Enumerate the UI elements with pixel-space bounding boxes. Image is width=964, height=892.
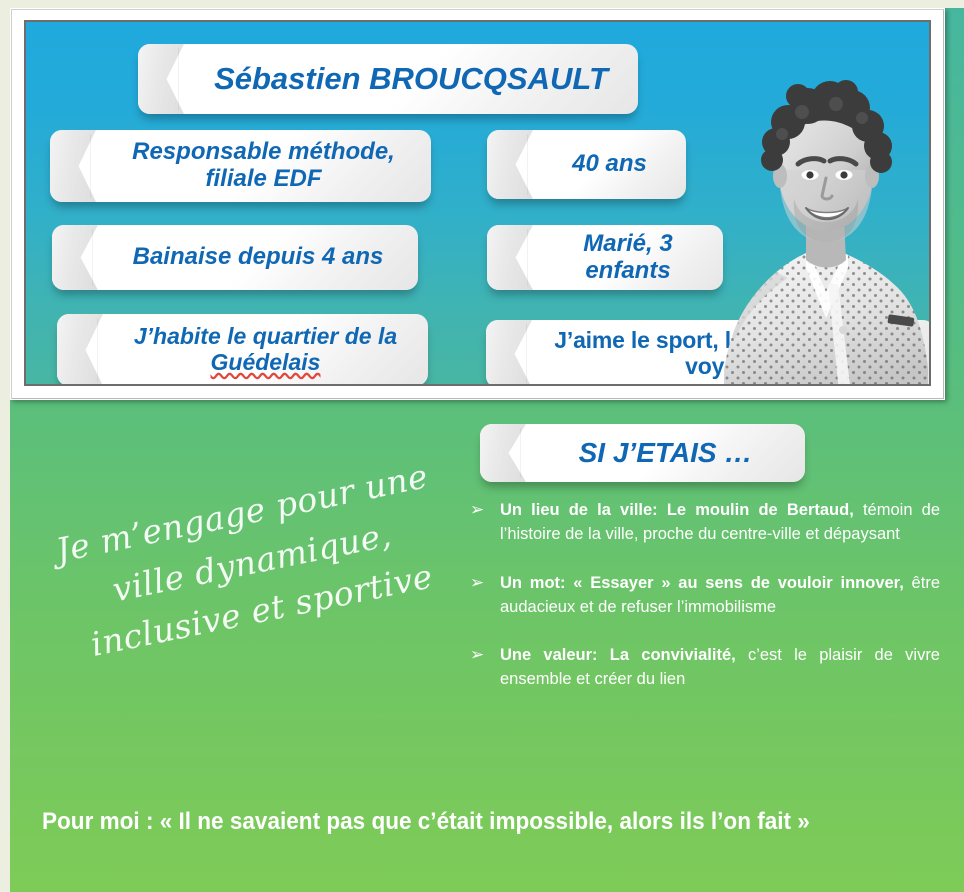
city-text: Bainaise depuis 4 ans: [133, 244, 384, 271]
age-text: 40 ans: [572, 151, 647, 178]
handwritten-pledge: Je m’engage pour une ville dynamique, in…: [46, 450, 458, 673]
banner-age: 40 ans: [487, 130, 686, 199]
banner-job: Responsable méthode, filiale EDF: [50, 130, 431, 202]
quartier-text: J’habite le quartier de la Guédelais: [119, 324, 412, 376]
arrow-bullet-icon: ➢: [470, 571, 500, 620]
bullet-lead: Un lieu de la ville: Le moulin de Bertau…: [500, 501, 854, 519]
quartier-name: Guédelais: [211, 349, 321, 375]
section-title-text: SI J’ETAIS …: [579, 437, 753, 468]
job-text: Responsable méthode, filiale EDF: [112, 139, 415, 193]
top-margin: [0, 0, 964, 8]
top-frame-inner: Sébastien BROUCQSAULT Responsable méthod…: [24, 20, 931, 386]
bullet-lead: Un mot: « Essayer » au sens de vouloir i…: [500, 574, 904, 592]
banner-family: Marié, 3 enfants: [487, 225, 723, 290]
banner-city: Bainaise depuis 4 ans: [52, 225, 418, 290]
bullet-list: ➢ Un lieu de la ville: Le moulin de Bert…: [470, 498, 940, 716]
list-item: ➢ Un mot: « Essayer » au sens de vouloir…: [470, 571, 940, 620]
bullet-lead: Une valeur: La convivialité,: [500, 646, 736, 664]
hobbies-text: J’aime le sport, la musique et les voyag…: [542, 328, 919, 380]
arrow-bullet-icon: ➢: [470, 643, 500, 692]
left-margin: [0, 0, 10, 892]
closing-quote: Pour moi : « Il ne savaient pas que c’ét…: [42, 806, 852, 839]
profile-poster: Sébastien BROUCQSAULT Responsable méthod…: [0, 0, 964, 892]
banner-quartier: J’habite le quartier de la Guédelais: [57, 314, 428, 386]
bullet-body: Un mot: « Essayer » au sens de vouloir i…: [500, 571, 940, 620]
arrow-bullet-icon: ➢: [470, 498, 500, 547]
banner-name: Sébastien BROUCQSAULT: [138, 44, 638, 114]
bullet-body: Une valeur: La convivialité, c’est le pl…: [500, 643, 940, 692]
quartier-prefix: J’habite le quartier de la: [134, 323, 397, 349]
bullet-body: Un lieu de la ville: Le moulin de Bertau…: [500, 498, 940, 547]
family-text: Marié, 3 enfants: [549, 231, 707, 285]
top-photo-frame: Sébastien BROUCQSAULT Responsable méthod…: [10, 8, 945, 400]
list-item: ➢ Un lieu de la ville: Le moulin de Bert…: [470, 498, 940, 547]
list-item: ➢ Une valeur: La convivialité, c’est le …: [470, 643, 940, 692]
banner-hobbies: J’aime le sport, la musique et les voyag…: [486, 320, 931, 386]
banner-section-title: SI J’ETAIS …: [480, 424, 805, 482]
name-text: Sébastien BROUCQSAULT: [214, 62, 608, 97]
